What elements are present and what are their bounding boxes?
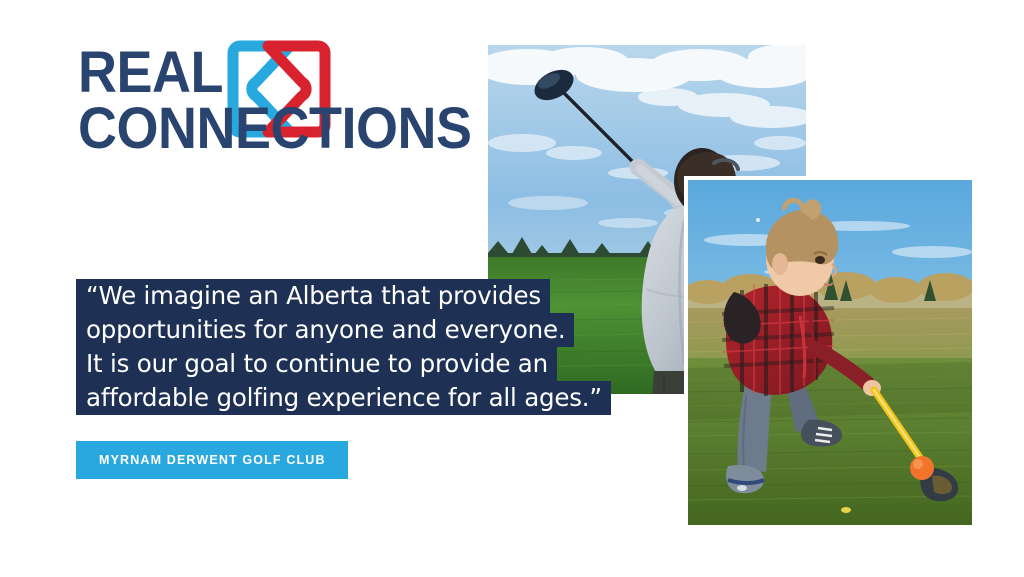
quote-block: “We imagine an Alberta that provides opp… [76,279,611,415]
child-golfer-photo [684,176,976,529]
quote-line: opportunities for anyone and everyone. [76,313,574,347]
attribution-badge: MYRNAM DERWENT GOLF CLUB [76,441,348,479]
brand-logo: REAL CONNECTIONS [78,46,501,156]
logo-word-connections: CONNECTIONS [78,102,471,156]
quote-line: affordable golfing experience for all ag… [76,381,611,415]
logo-word-real: REAL [78,46,471,100]
quote-line: It is our goal to continue to provide an [76,347,557,381]
child-golfer-illustration [688,180,972,525]
quote-line: “We imagine an Alberta that provides [76,279,550,313]
promotional-banner: REAL CONNECTIONS “We imagine an Alberta … [0,0,1024,577]
